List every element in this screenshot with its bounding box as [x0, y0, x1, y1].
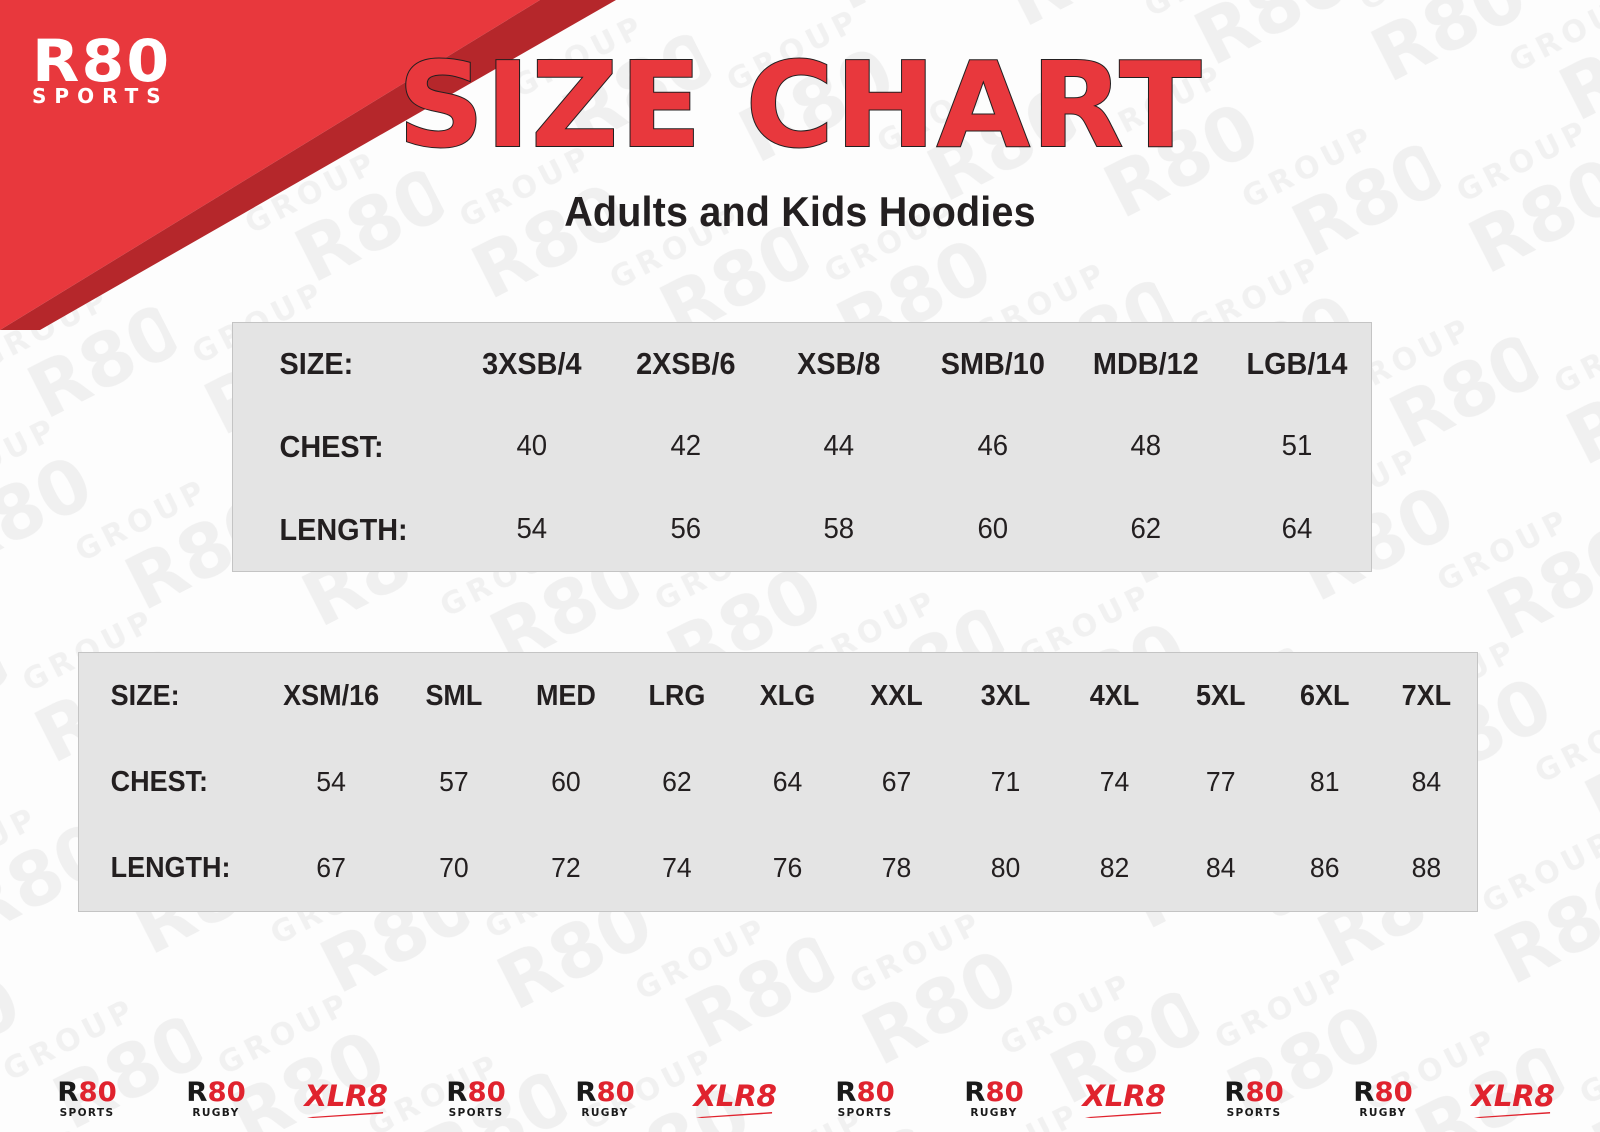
- footer-logo-main: R80: [1326, 1079, 1440, 1106]
- footer-logo-r80-sports-9: R80SPORTS: [1198, 1079, 1310, 1118]
- footer-logo-main: XLR8: [678, 1082, 792, 1111]
- title-block: SIZE CHART Adults and Kids Hoodies: [0, 46, 1600, 236]
- adults-length-0: 67: [267, 825, 394, 911]
- footer-logo-xlr8-8: XLR8: [1068, 1082, 1180, 1118]
- table-row: SIZE: XSM/16 SML MED LRG XLG XXL 3XL 4XL…: [79, 653, 1477, 739]
- kids-row-label-size: SIZE:: [233, 323, 439, 406]
- footer-logo-main: XLR8: [289, 1082, 403, 1111]
- adults-row-label-chest: CHEST:: [79, 739, 251, 825]
- kids-chest-3: 46: [920, 406, 1066, 489]
- adults-length-4: 76: [736, 825, 840, 911]
- footer-logo-r80-sports-6: R80SPORTS: [809, 1079, 921, 1118]
- adults-row-label-size: SIZE:: [79, 653, 251, 739]
- footer-logo-r80-sports-0: R80SPORTS: [31, 1079, 143, 1118]
- table-row: LENGTH: 54 56 58 60 62 64: [233, 488, 1371, 571]
- adults-chest-8: 77: [1172, 739, 1270, 825]
- footer-logo-main: R80: [1197, 1079, 1311, 1106]
- footer-logo-sub: RUGBY: [1330, 1107, 1438, 1118]
- table-row: CHEST: 54 57 60 62 64 67 71 74 77 81 84: [79, 739, 1477, 825]
- kids-size-col-0: 3XSB/4: [460, 323, 603, 406]
- footer-logo-strip: R80SPORTSR80RUGBYXLR8R80SPORTSR80RUGBYXL…: [0, 1079, 1600, 1118]
- kids-size-table-panel: SIZE: 3XSB/4 2XSB/6 XSB/8 SMB/10 MDB/12 …: [232, 322, 1372, 572]
- kids-chest-4: 48: [1073, 406, 1219, 489]
- footer-logo-sub: SPORTS: [811, 1107, 919, 1118]
- adults-size-col-5: XXL: [846, 653, 947, 739]
- adults-row-label-length: LENGTH:: [79, 825, 251, 911]
- page-subtitle: Adults and Kids Hoodies: [48, 188, 1552, 236]
- kids-chest-5: 51: [1227, 406, 1368, 489]
- table-row: CHEST: 40 42 44 46 48 51: [233, 406, 1371, 489]
- footer-logo-r80-rugby-1: R80RUGBY: [160, 1079, 272, 1118]
- adults-chest-1: 57: [401, 739, 507, 825]
- footer-logo-xlr8-5: XLR8: [679, 1082, 791, 1118]
- footer-logo-sub: RUGBY: [941, 1107, 1049, 1118]
- footer-logo-xlr8-11: XLR8: [1457, 1082, 1569, 1118]
- kids-length-0: 54: [459, 488, 605, 571]
- adults-size-table: SIZE: XSM/16 SML MED LRG XLG XXL 3XL 4XL…: [79, 653, 1477, 911]
- footer-logo-main: R80: [30, 1079, 144, 1106]
- kids-length-5: 64: [1227, 488, 1368, 571]
- adults-size-col-10: 7XL: [1380, 653, 1474, 739]
- adults-size-col-6: 3XL: [955, 653, 1056, 739]
- kids-row-label-chest: CHEST:: [233, 406, 439, 489]
- footer-logo-r80-sports-3: R80SPORTS: [420, 1079, 532, 1118]
- footer-logo-main: R80: [808, 1079, 922, 1106]
- kids-row-label-length: LENGTH:: [233, 488, 439, 571]
- adults-length-10: 88: [1379, 825, 1475, 911]
- adults-size-col-0: XSM/16: [268, 653, 393, 739]
- kids-size-col-3: SMB/10: [921, 323, 1064, 406]
- adults-length-5: 78: [845, 825, 949, 911]
- adults-length-7: 82: [1063, 825, 1167, 911]
- adults-size-col-2: MED: [513, 653, 617, 739]
- adults-chest-6: 71: [954, 739, 1058, 825]
- footer-logo-sub: SPORTS: [422, 1107, 530, 1118]
- footer-logo-sub: SPORTS: [33, 1107, 141, 1118]
- footer-logo-r80-rugby-10: R80RUGBY: [1327, 1079, 1439, 1118]
- kids-size-col-5: LGB/14: [1228, 323, 1366, 406]
- adults-length-1: 70: [401, 825, 507, 911]
- footer-logo-r80-rugby-7: R80RUGBY: [938, 1079, 1050, 1118]
- adults-length-2: 72: [512, 825, 618, 911]
- adults-size-col-7: 4XL: [1064, 653, 1165, 739]
- adults-chest-0: 54: [267, 739, 394, 825]
- footer-logo-main: XLR8: [1067, 1082, 1181, 1111]
- kids-size-col-1: 2XSB/6: [614, 323, 757, 406]
- kids-length-2: 58: [766, 488, 912, 571]
- footer-logo-main: R80: [419, 1079, 533, 1106]
- adults-chest-10: 84: [1379, 739, 1475, 825]
- table-row: SIZE: 3XSB/4 2XSB/6 XSB/8 SMB/10 MDB/12 …: [233, 323, 1371, 406]
- footer-logo-sub: RUGBY: [163, 1107, 271, 1118]
- kids-length-3: 60: [920, 488, 1066, 571]
- kids-length-1: 56: [612, 488, 758, 571]
- adults-chest-3: 62: [624, 739, 730, 825]
- adults-size-col-1: SML: [402, 653, 506, 739]
- footer-logo-sub: RUGBY: [552, 1107, 660, 1118]
- kids-size-col-2: XSB/8: [768, 323, 911, 406]
- kids-chest-2: 44: [766, 406, 912, 489]
- footer-logo-r80-rugby-4: R80RUGBY: [549, 1079, 661, 1118]
- adults-length-6: 80: [954, 825, 1058, 911]
- footer-logo-main: R80: [159, 1079, 273, 1106]
- adults-size-col-9: 6XL: [1276, 653, 1372, 739]
- adults-size-col-8: 5XL: [1173, 653, 1269, 739]
- adults-length-8: 84: [1172, 825, 1270, 911]
- kids-size-table: SIZE: 3XSB/4 2XSB/6 XSB/8 SMB/10 MDB/12 …: [233, 323, 1371, 571]
- adults-length-3: 74: [624, 825, 730, 911]
- adults-size-table-panel: SIZE: XSM/16 SML MED LRG XLG XXL 3XL 4XL…: [78, 652, 1478, 912]
- kids-size-col-4: MDB/12: [1075, 323, 1218, 406]
- adults-chest-4: 64: [736, 739, 840, 825]
- footer-logo-xlr8-2: XLR8: [290, 1082, 402, 1118]
- footer-logo-main: R80: [548, 1079, 662, 1106]
- page-title: SIZE CHART: [0, 46, 1600, 164]
- adults-chest-9: 81: [1275, 739, 1373, 825]
- adults-size-col-4: XLG: [737, 653, 838, 739]
- adults-length-9: 86: [1275, 825, 1373, 911]
- footer-logo-main: XLR8: [1456, 1082, 1570, 1111]
- kids-chest-1: 42: [612, 406, 758, 489]
- footer-logo-sub: SPORTS: [1200, 1107, 1308, 1118]
- adults-chest-2: 60: [512, 739, 618, 825]
- adults-chest-5: 67: [845, 739, 949, 825]
- footer-logo-main: R80: [937, 1079, 1051, 1106]
- adults-size-col-3: LRG: [625, 653, 729, 739]
- adults-chest-7: 74: [1063, 739, 1167, 825]
- size-chart-page: R80 GROUP R80 GROUP R80 SPORTS SIZE CHAR…: [0, 0, 1600, 1132]
- table-row: LENGTH: 67 70 72 74 76 78 80 82 84 86 88: [79, 825, 1477, 911]
- kids-length-4: 62: [1073, 488, 1219, 571]
- kids-chest-0: 40: [459, 406, 605, 489]
